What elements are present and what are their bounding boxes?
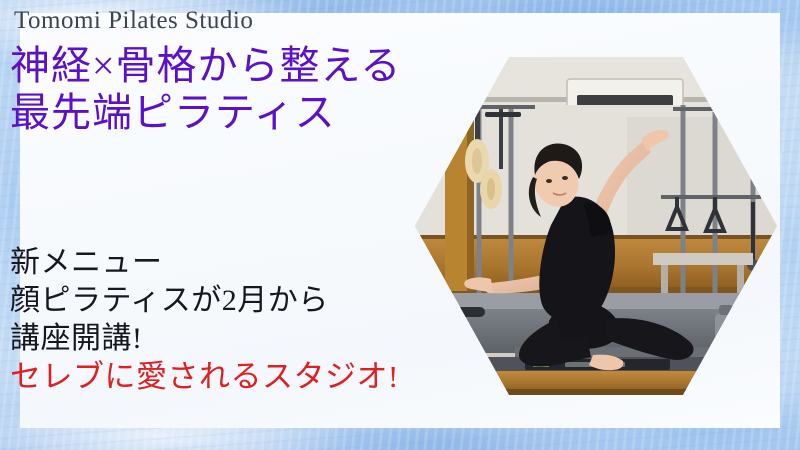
studio-brand-name: Tomomi Pilates Studio [8,8,448,33]
headline: 神経×骨格から整える 最先端ピラティス [8,42,448,136]
body-copy: 新メニュー 顔ピラティスが2月から 講座開講! セレブに愛されるスタジオ! [10,244,470,396]
text-column: Tomomi Pilates Studio 神経×骨格から整える 最先端ピラティ… [8,8,448,136]
body-line-1: 新メニュー [10,244,470,282]
promo-banner: Tomomi Pilates Studio 神経×骨格から整える 最先端ピラティ… [0,0,800,450]
tagline: セレブに愛されるスタジオ! [10,358,470,396]
body-line-2: 顔ピラティスが2月から [10,282,470,320]
body-line-3: 講座開講! [10,320,470,358]
headline-line-1: 神経×骨格から整える [10,42,448,89]
headline-line-2: 最先端ピラティス [10,89,448,136]
